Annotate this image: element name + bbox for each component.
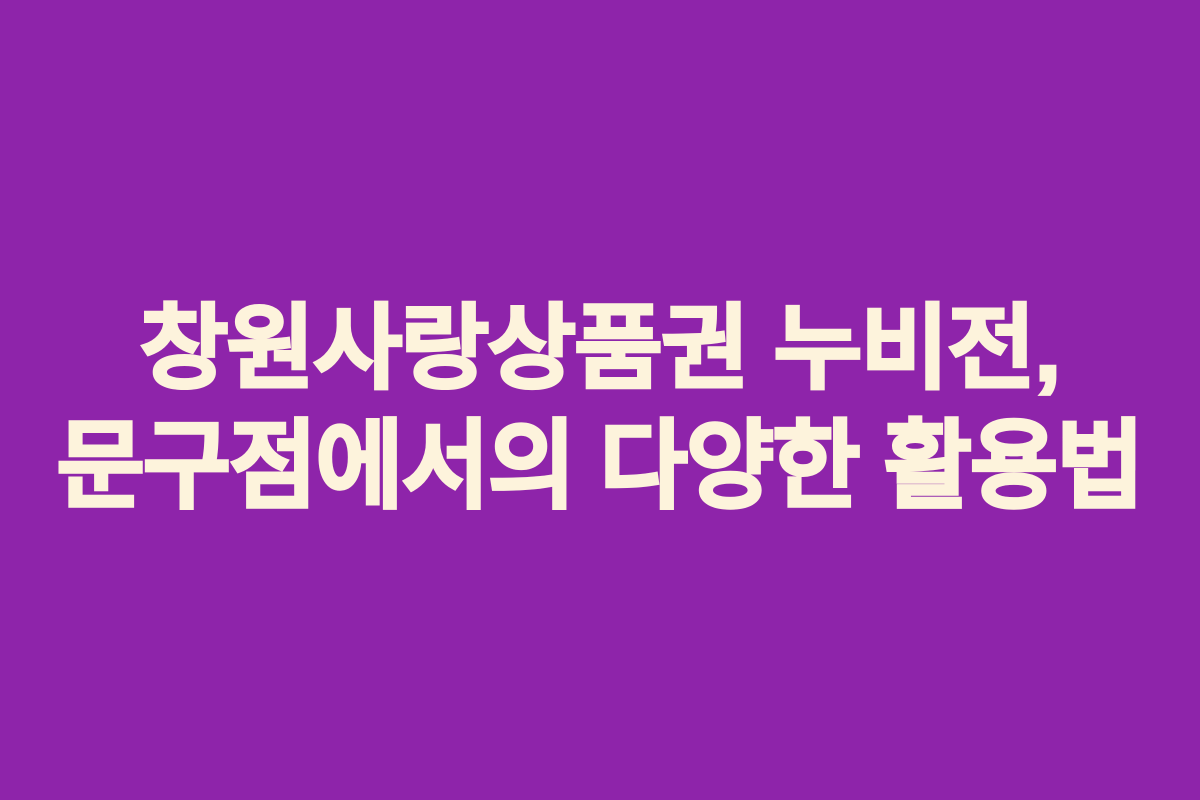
title-line-2: 문구점에서의 다양한 활용법 <box>6 413 1194 521</box>
title-line-1: 창원사랑상품권 누비전, <box>0 297 1200 401</box>
page-title: 창원사랑상품권 누비전, 문구점에서의 다양한 활용법 <box>0 297 1200 521</box>
title-card: 창원사랑상품권 누비전, 문구점에서의 다양한 활용법 <box>0 0 1200 800</box>
